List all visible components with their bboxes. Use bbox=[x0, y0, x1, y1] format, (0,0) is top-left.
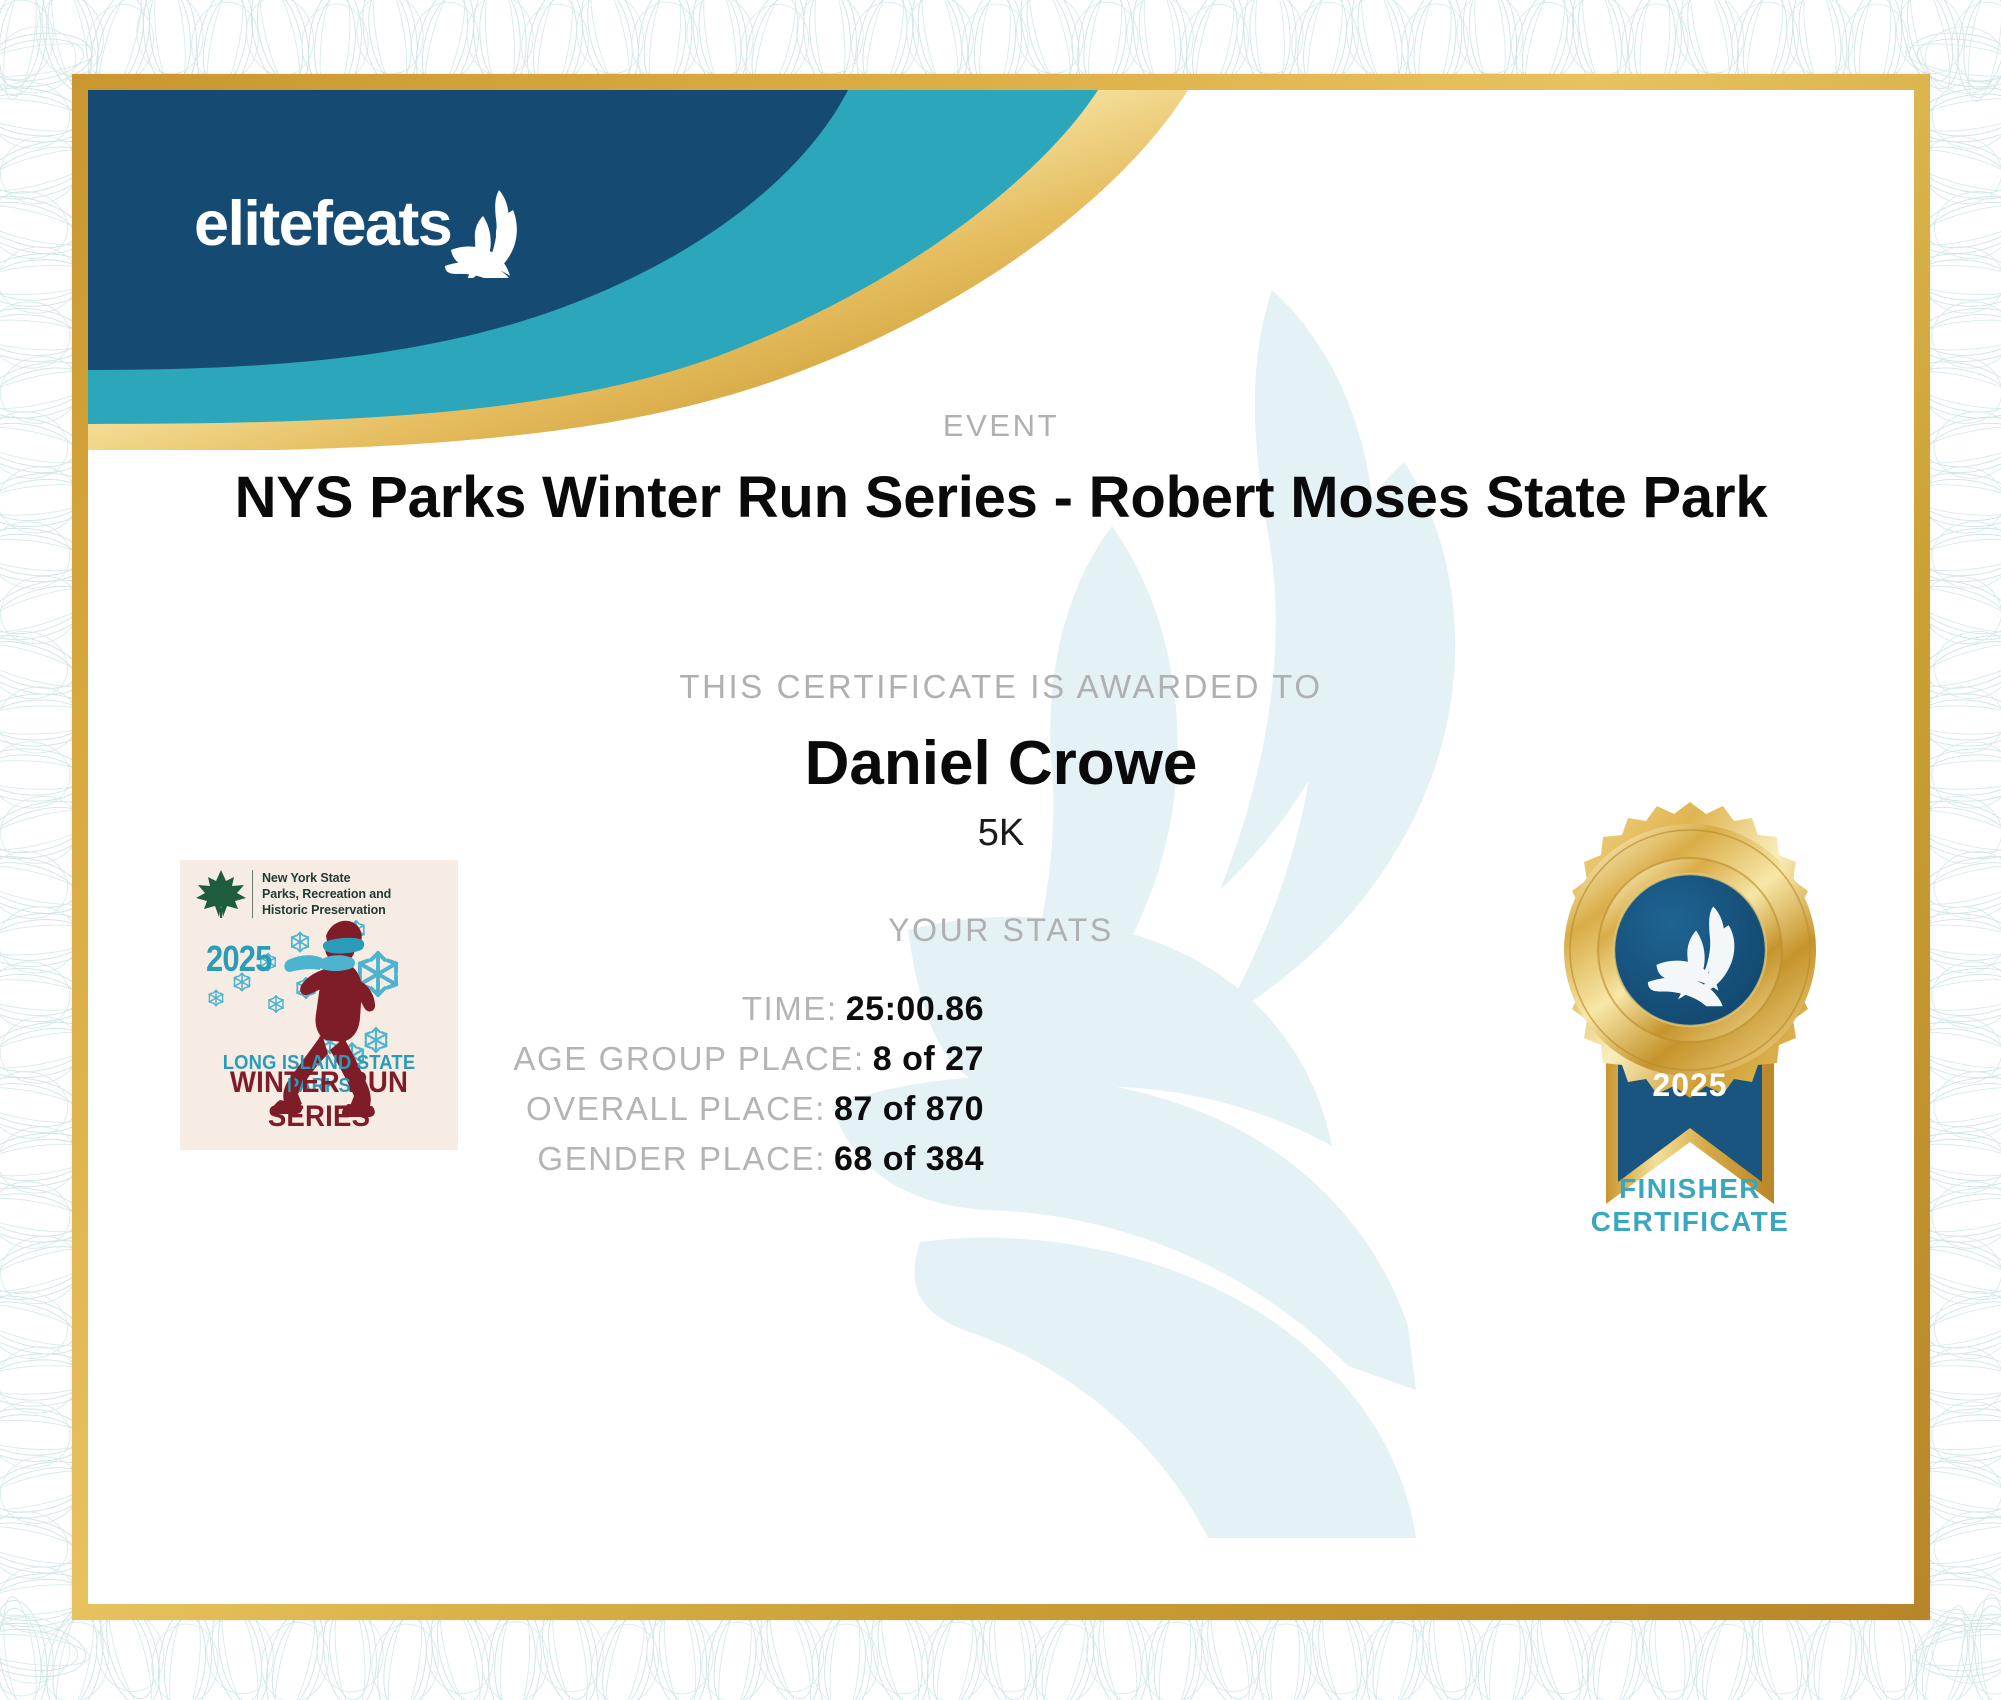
event-title: NYS Parks Winter Run Series - Robert Mos… bbox=[88, 464, 1914, 531]
stat-key-overall-place: OVERALL PLACE: bbox=[526, 1090, 826, 1127]
stat-value-overall-place: 87 of 870 bbox=[834, 1090, 984, 1128]
event-label: EVENT bbox=[88, 408, 1914, 444]
stat-key-age-group-place: AGE GROUP PLACE: bbox=[513, 1040, 864, 1077]
nys-agency-text: New York State Parks, Recreation and His… bbox=[252, 870, 391, 918]
race-series-logo: New York State Parks, Recreation and His… bbox=[180, 860, 458, 1150]
finisher-caption-line1: FINISHER bbox=[1520, 1172, 1860, 1205]
stat-key-gender-place: GENDER PLACE: bbox=[537, 1140, 826, 1177]
stat-value-time: 25:00.86 bbox=[846, 990, 984, 1028]
medal-year: 2025 bbox=[1652, 1067, 1727, 1103]
finisher-caption-line2: CERTIFICATE bbox=[1520, 1205, 1860, 1238]
race-series-line2: WINTER RUN SERIES bbox=[191, 1066, 447, 1134]
certificate-page: elitefeats EVENT NYS Parks Winter Run Se… bbox=[0, 0, 2001, 1700]
nys-agency-line3: Historic Preservation bbox=[262, 902, 391, 918]
stat-value-gender-place: 68 of 384 bbox=[834, 1140, 984, 1178]
maple-leaf-icon bbox=[194, 868, 248, 920]
certificate-card: elitefeats EVENT NYS Parks Winter Run Se… bbox=[88, 90, 1914, 1604]
race-logo-year: 2025 bbox=[206, 938, 271, 980]
awarded-to-label: THIS CERTIFICATE IS AWARDED TO bbox=[88, 668, 1914, 706]
stat-key-time: TIME: bbox=[742, 990, 838, 1027]
recipient-name: Daniel Crowe bbox=[88, 728, 1914, 799]
certificate-content: EVENT NYS Parks Winter Run Series - Robe… bbox=[88, 90, 1914, 1604]
certificate-gold-frame: elitefeats EVENT NYS Parks Winter Run Se… bbox=[72, 74, 1930, 1620]
finisher-certificate-caption: FINISHER CERTIFICATE bbox=[1520, 1172, 1860, 1238]
nys-agency-line1: New York State bbox=[262, 870, 391, 886]
nys-agency-line2: Parks, Recreation and bbox=[262, 886, 391, 902]
nys-parks-agency-lockup: New York State Parks, Recreation and His… bbox=[194, 868, 391, 920]
stat-value-age-group-place: 8 of 27 bbox=[873, 1040, 984, 1078]
